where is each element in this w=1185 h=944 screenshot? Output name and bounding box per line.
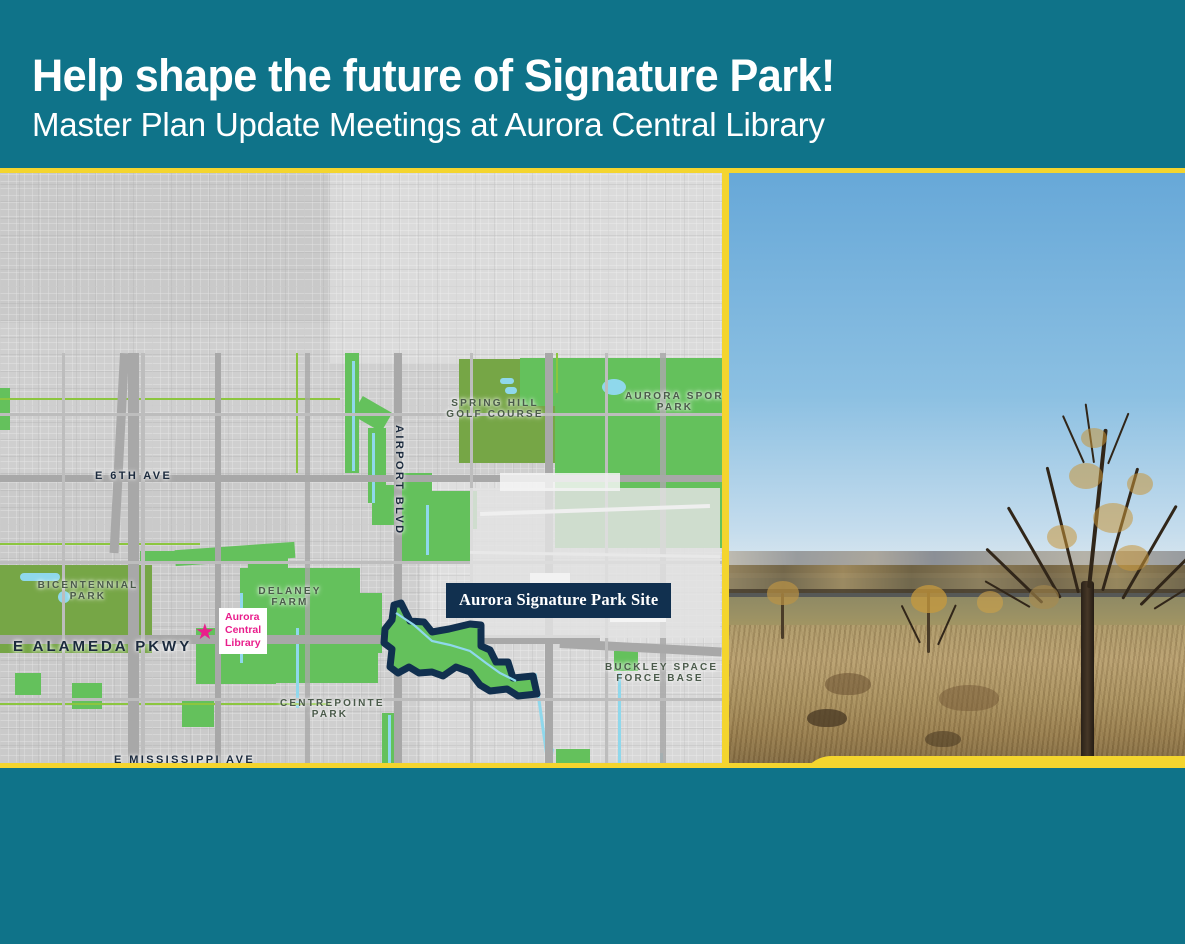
bicentennial-line2: PARK	[70, 591, 106, 602]
page-subtitle: Master Plan Update Meetings at Aurora Ce…	[32, 106, 825, 144]
map-label-e-6th-ave: E 6TH AVE	[95, 470, 172, 482]
map-label-bicentennial-park: BICENTENNIAL PARK	[33, 580, 143, 602]
map-label-spring-hill-golf-course: SPRING HILL GOLF COURSE	[440, 398, 550, 420]
map-label-buckley-space-force-base: BUCKLEY SPACE FORCE BASE	[605, 662, 715, 684]
map-label-delaney-farm: DELANEY FARM	[245, 586, 335, 608]
library-label-line2: Central	[225, 624, 261, 636]
buckley-line2: FORCE BASE	[616, 673, 704, 684]
spring-hill-line1: SPRING HILL	[451, 398, 539, 409]
location-map[interactable]: E 6TH AVE E ALAMEDA PKWY E MISSISSIPPI A…	[0, 173, 722, 763]
aurora-sports-line1: AURORA SPORTS	[625, 391, 722, 402]
delaney-line1: DELANEY	[258, 586, 321, 597]
footer-bar: ★ ★ ★ ★ ★ AURORA Learn more and stay eng…	[0, 768, 1185, 944]
map-label-airport-blvd: AIRPORT BLVD	[393, 425, 405, 535]
map-label-aurora-sports-park: AURORA SPORTS PARK	[625, 391, 722, 413]
library-label-box: Aurora Central Library	[219, 608, 267, 654]
centrepointe-line1: CENTREPOINTE	[280, 698, 385, 709]
spring-hill-line2: GOLF COURSE	[446, 409, 544, 420]
park-site-callout: Aurora Signature Park Site	[446, 583, 671, 618]
map-label-e-mississippi-ave: E MISSISSIPPI AVE	[114, 754, 255, 763]
media-band: E 6TH AVE E ALAMEDA PKWY E MISSISSIPPI A…	[0, 168, 1185, 768]
map-label-centrepointe-park: CENTREPOINTE PARK	[280, 698, 380, 720]
buckley-line1: BUCKLEY SPACE	[605, 662, 718, 673]
library-label-line3: Library	[225, 637, 261, 649]
delaney-line2: FARM	[271, 597, 308, 608]
library-star-marker: ★	[195, 621, 215, 643]
page-title: Help shape the future of Signature Park!	[32, 52, 835, 100]
site-photo	[729, 173, 1185, 763]
library-label-line1: Aurora	[225, 611, 259, 623]
map-basemap: E 6TH AVE E ALAMEDA PKWY E MISSISSIPPI A…	[0, 173, 722, 763]
header-banner: Help shape the future of Signature Park!…	[0, 0, 1185, 168]
aurora-sports-line2: PARK	[657, 402, 693, 413]
bicentennial-line1: BICENTENNIAL	[38, 580, 139, 591]
map-label-e-alameda-pkwy: E ALAMEDA PKWY	[13, 638, 192, 655]
poster-root: Help shape the future of Signature Park!…	[0, 0, 1185, 944]
centrepointe-line2: PARK	[312, 709, 348, 720]
